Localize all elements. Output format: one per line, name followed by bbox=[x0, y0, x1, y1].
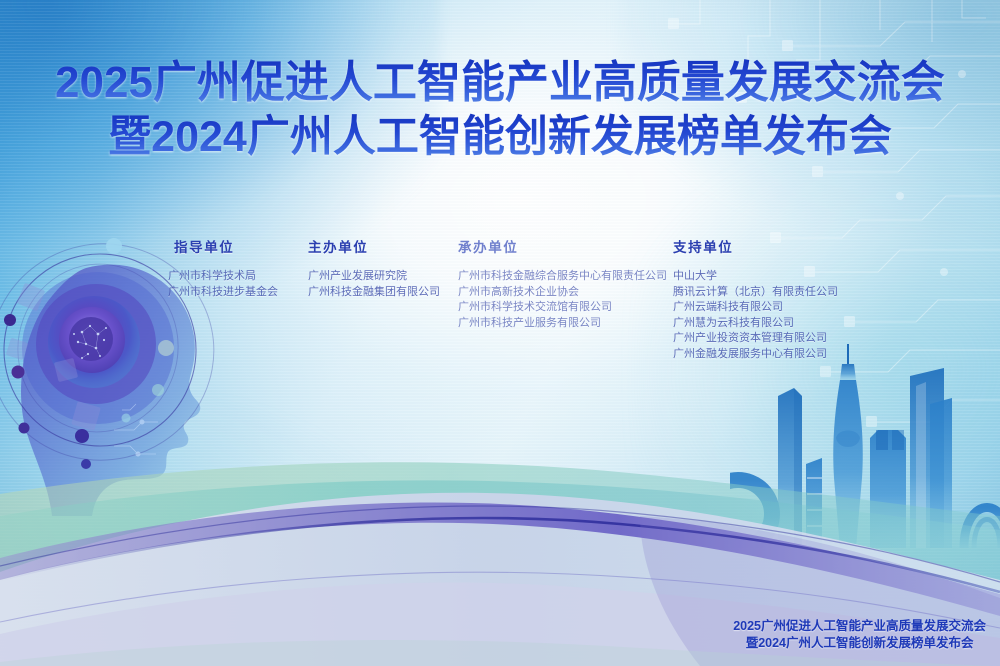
org-column-guidance: 指导单位 广州市科学技术局 广州市科技进步基金会 bbox=[168, 236, 308, 300]
org-item: 广州市科学技术交流馆有限公司 bbox=[458, 300, 673, 316]
org-item: 广州慧为云科技有限公司 bbox=[673, 316, 863, 332]
event-backdrop: 2025广州促进人工智能产业高质量发展交流会 暨2024广州人工智能创新发展榜单… bbox=[0, 0, 1000, 666]
org-heading-organizer: 承办单位 bbox=[458, 236, 673, 256]
org-item: 腾讯云计算（北京）有限责任公司 bbox=[673, 285, 863, 301]
bottom-caption-line-2: 暨2024广州人工智能创新发展榜单发布会 bbox=[733, 635, 986, 652]
org-item: 广州金融发展服务中心有限公司 bbox=[673, 347, 863, 363]
event-title-line-1: 2025广州促进人工智能产业高质量发展交流会 bbox=[0, 56, 1000, 110]
org-item: 广州科技金融集团有限公司 bbox=[308, 285, 458, 301]
org-item: 中山大学 bbox=[673, 269, 863, 285]
org-item: 广州市科技金融综合服务中心有限责任公司 bbox=[458, 269, 673, 285]
org-item: 广州市科学技术局 bbox=[168, 269, 308, 285]
event-title-line-2: 暨2024广州人工智能创新发展榜单发布会 bbox=[0, 110, 1000, 164]
org-column-host: 主办单位 广州产业发展研究院 广州科技金融集团有限公司 bbox=[308, 236, 458, 300]
bottom-caption: 2025广州促进人工智能产业高质量发展交流会 暨2024广州人工智能创新发展榜单… bbox=[733, 618, 986, 652]
bottom-caption-line-1: 2025广州促进人工智能产业高质量发展交流会 bbox=[733, 618, 986, 635]
org-item: 广州市科技进步基金会 bbox=[168, 285, 308, 301]
org-item: 广州市高新技术企业协会 bbox=[458, 285, 673, 301]
org-heading-support: 支持单位 bbox=[673, 236, 863, 256]
org-item: 广州云端科技有限公司 bbox=[673, 300, 863, 316]
organization-columns: 指导单位 广州市科学技术局 广州市科技进步基金会 主办单位 广州产业发展研究院 … bbox=[168, 236, 868, 362]
org-item: 广州产业发展研究院 bbox=[308, 269, 458, 285]
org-column-support: 支持单位 中山大学 腾讯云计算（北京）有限责任公司 广州云端科技有限公司 广州慧… bbox=[673, 236, 863, 362]
org-heading-host: 主办单位 bbox=[308, 236, 458, 256]
event-title: 2025广州促进人工智能产业高质量发展交流会 暨2024广州人工智能创新发展榜单… bbox=[0, 56, 1000, 164]
org-item: 广州市科技产业服务有限公司 bbox=[458, 316, 673, 332]
org-item: 广州产业投资资本管理有限公司 bbox=[673, 331, 863, 347]
org-heading-guidance: 指导单位 bbox=[168, 236, 308, 256]
org-column-organizer: 承办单位 广州市科技金融综合服务中心有限责任公司 广州市高新技术企业协会 广州市… bbox=[458, 236, 673, 331]
